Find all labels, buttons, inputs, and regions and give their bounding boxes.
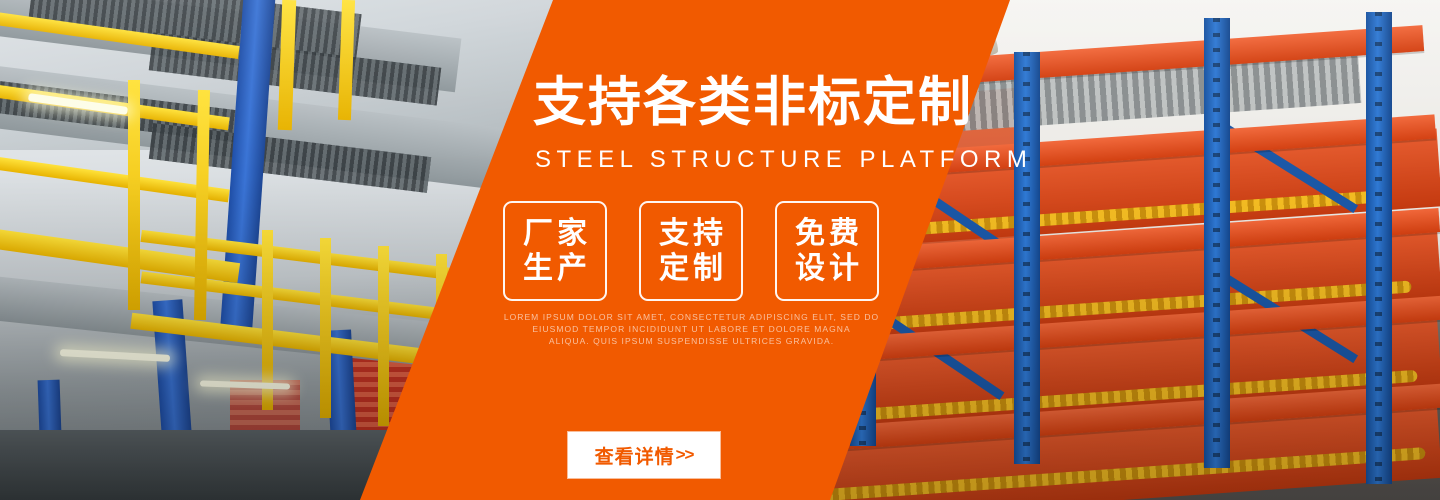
- feature-badge-manufacturer: 厂家 生产: [503, 201, 607, 301]
- feature-badge-line2: 设计: [791, 251, 863, 286]
- feature-badge-line1: 厂家: [519, 216, 591, 251]
- feature-badge-line1: 免费: [791, 216, 863, 251]
- promo-banner: 支持各类非标定制 STEEL STRUCTURE PLATFORM 厂家 生产 …: [0, 0, 1440, 500]
- feature-badge-line2: 定制: [655, 251, 727, 286]
- description-line-1: LOREM IPSUM DOLOR SIT AMET, CONSECTETUR …: [503, 311, 880, 323]
- banner-description: LOREM IPSUM DOLOR SIT AMET, CONSECTETUR …: [503, 311, 880, 348]
- view-details-button[interactable]: 查看详情 >>: [568, 432, 720, 478]
- description-line-3: ALIQUA. QUIS IPSUM SUSPENDISSE ULTRICES …: [503, 335, 880, 347]
- view-details-label: 查看详情: [595, 442, 675, 469]
- feature-badge-row: 厂家 生产 支持 定制 免费 设计: [503, 201, 879, 301]
- feature-badge-customization: 支持 定制: [639, 201, 743, 301]
- description-line-2: EIUSMOD TEMPOR INCIDIDUNT UT LABORE ET D…: [503, 323, 880, 335]
- banner-content: 支持各类非标定制 STEEL STRUCTURE PLATFORM 厂家 生产 …: [0, 0, 1440, 500]
- feature-badge-line2: 生产: [519, 251, 591, 286]
- page-title: 支持各类非标定制: [533, 76, 973, 129]
- feature-badge-line1: 支持: [655, 216, 727, 251]
- banner-subtitle: STEEL STRUCTURE PLATFORM: [535, 146, 1032, 174]
- feature-badge-free-design: 免费 设计: [775, 201, 879, 301]
- chevron-right-icon: >>: [676, 445, 694, 465]
